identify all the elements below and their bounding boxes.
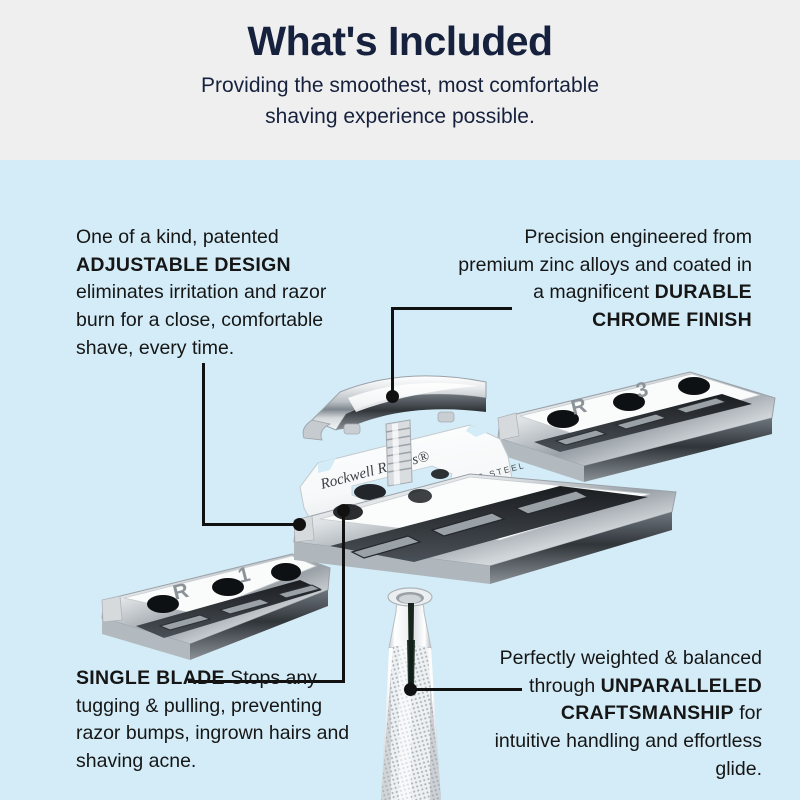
- page-subtitle-line1: Providing the smoothest, most comfortabl…: [201, 71, 599, 101]
- page-subtitle: Providing the smoothest, most comfortabl…: [201, 71, 599, 132]
- callout-durable-chrome-finish: Precision engineered from premium zinc a…: [452, 224, 752, 335]
- blade-brand-text: Rockwell Razors®: [318, 448, 431, 493]
- connector-dot-craft: [404, 683, 417, 696]
- callout-adjustable-text-after: eliminates irritation and razor burn for…: [76, 281, 326, 358]
- callout-adjustable-text-before: One of a kind, patented: [76, 226, 279, 248]
- callout-single-blade: SINGLE BLADE Stops any tugging & pulling…: [76, 665, 356, 776]
- page-title: What's Included: [247, 18, 552, 65]
- header-banner: What's Included Providing the smoothest,…: [0, 0, 800, 160]
- base-plate-right: R 3: [498, 372, 775, 482]
- connector-line-adjustable-horizontal: [202, 523, 300, 526]
- base-plate-left: R 1: [102, 554, 330, 660]
- connector-line-blade-vertical: [342, 511, 345, 683]
- plate-left-letter: R: [171, 579, 191, 605]
- plate-right-letter: R: [569, 394, 589, 420]
- plate-left-number: 1: [236, 563, 253, 588]
- infographic-page: What's Included Providing the smoothest,…: [0, 0, 800, 800]
- connector-dot-chrome: [386, 390, 399, 403]
- razor-blade: Rockwell Razors® SWEDISH STAINLESS STEEL: [300, 425, 526, 540]
- blade-material-text: SWEDISH STAINLESS STEEL: [366, 460, 526, 512]
- callout-adjustable-design: One of a kind, patented ADJUSTABLE DESIG…: [76, 224, 344, 362]
- connector-dot-adjustable: [293, 518, 306, 531]
- connector-dot-blade: [337, 504, 350, 517]
- callout-adjustable-emphasis: ADJUSTABLE DESIGN: [76, 254, 291, 276]
- connector-line-chrome-vertical: [391, 307, 394, 396]
- connector-line-adjustable-vertical: [202, 363, 205, 526]
- base-plate-center: [294, 474, 676, 584]
- plate-right-number: 3: [634, 378, 651, 403]
- page-subtitle-line2: shaving experience possible.: [201, 102, 599, 132]
- callout-blade-emphasis: SINGLE BLADE: [76, 667, 225, 689]
- callout-unparalleled-craftsmanship: Perfectly weighted & balanced through UN…: [490, 645, 762, 783]
